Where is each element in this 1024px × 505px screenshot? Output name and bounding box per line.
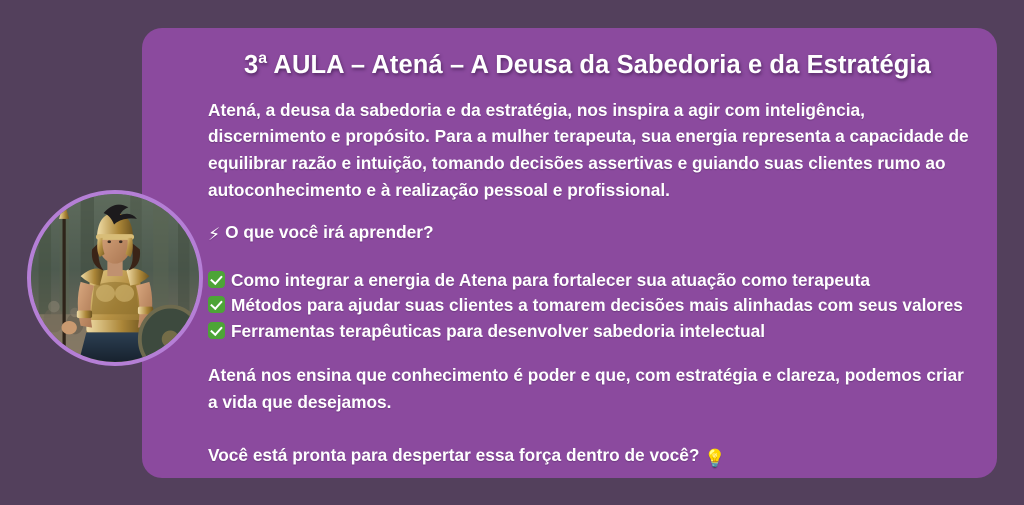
avatar xyxy=(27,190,203,366)
athena-warrior-portrait xyxy=(31,194,199,362)
title-ordinal: a xyxy=(258,50,267,67)
title-text: AULA – Atená – A Deusa da Sabedoria e da… xyxy=(267,51,931,79)
card-body: Atená, a deusa da sabedoria e da estraté… xyxy=(208,97,969,473)
check-mark-icon xyxy=(208,271,225,288)
closing-paragraph: Atená nos ensina que conhecimento é pode… xyxy=(208,362,969,416)
list-item: Como integrar a energia de Atena para fo… xyxy=(208,268,968,293)
benefits-list: Como integrar a energia de Atena para fo… xyxy=(208,268,969,344)
list-item-label: Ferramentas terapêuticas para desenvolve… xyxy=(231,321,765,341)
lightning-bolt-icon: ⚡ xyxy=(208,223,220,249)
page-title: 3a AULA – Atená – A Deusa da Sabedoria e… xyxy=(244,50,969,81)
learn-heading-label: O que você irá aprender? xyxy=(225,222,433,242)
check-mark-icon xyxy=(208,322,225,339)
title-number: 3 xyxy=(244,51,258,79)
call-to-action: Você está pronta para despertar essa for… xyxy=(208,442,969,473)
learn-heading: ⚡O que você irá aprender? xyxy=(208,220,969,249)
light-bulb-icon: 💡 xyxy=(704,446,726,473)
list-item-label: Métodos para ajudar suas clientes a toma… xyxy=(231,295,963,315)
list-item-label: Como integrar a energia de Atena para fo… xyxy=(231,270,870,290)
intro-paragraph: Atená, a deusa da sabedoria e da estraté… xyxy=(208,97,969,204)
list-item: Métodos para ajudar suas clientes a toma… xyxy=(208,293,968,318)
slide-canvas: 3a AULA – Atená – A Deusa da Sabedoria e… xyxy=(0,0,1024,505)
lesson-card: 3a AULA – Atená – A Deusa da Sabedoria e… xyxy=(142,28,997,478)
list-item: Ferramentas terapêuticas para desenvolve… xyxy=(208,319,968,344)
check-mark-icon xyxy=(208,296,225,313)
call-to-action-label: Você está pronta para despertar essa for… xyxy=(208,445,699,465)
